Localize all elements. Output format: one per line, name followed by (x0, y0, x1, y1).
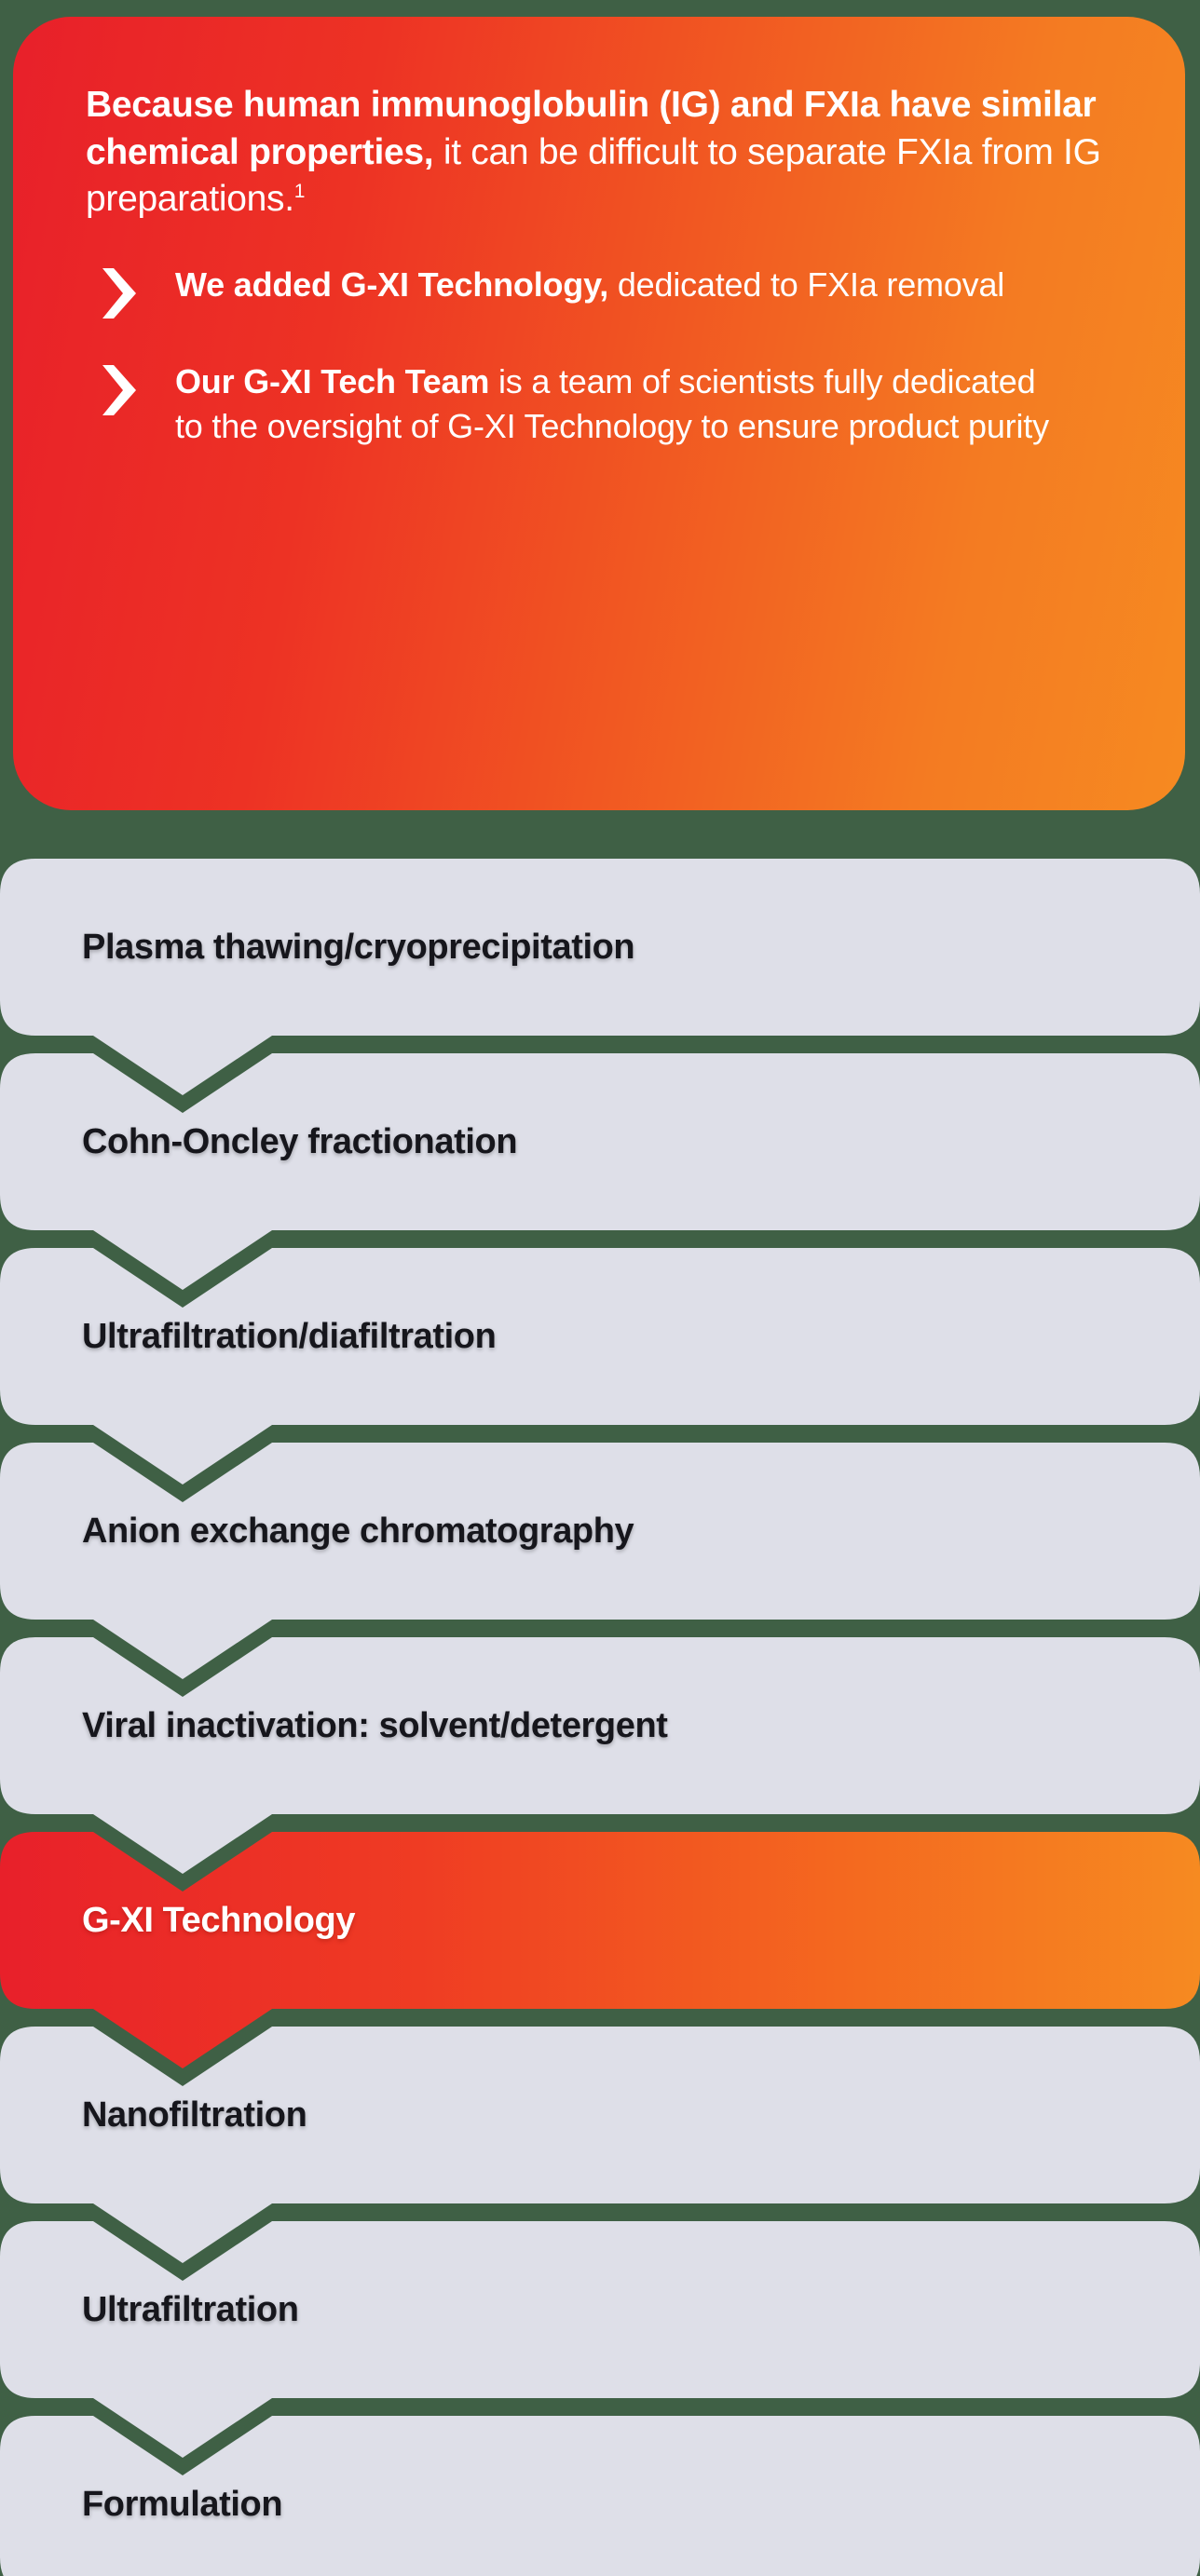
hero-lead-paragraph: Because human immunoglobulin (IG) and FX… (86, 82, 1118, 224)
infographic-page: Because human immunoglobulin (IG) and FX… (0, 0, 1200, 2576)
process-step-label: Ultrafiltration/diafiltration (82, 1248, 496, 1425)
process-step-label: Formulation (82, 2416, 282, 2576)
process-step-label: Anion exchange chromatography (82, 1443, 634, 1620)
chevron-right-icon (86, 263, 175, 319)
hero-gradient-card: Because human immunoglobulin (IG) and FX… (13, 17, 1185, 810)
process-step-label: Nanofiltration (82, 2027, 307, 2203)
process-flow-list: Plasma thawing/cryoprecipitationCohn-Onc… (0, 859, 1200, 2576)
hero-bullet-text: We added G-XI Technology, dedicated to F… (175, 263, 1004, 307)
process-step[interactable]: Nanofiltration (0, 2027, 1200, 2203)
process-step[interactable]: Viral inactivation: solvent/detergent (0, 1637, 1200, 1814)
process-step[interactable]: Anion exchange chromatography (0, 1443, 1200, 1620)
hero-bullet-text: Our G-XI Tech Team is a team of scientis… (175, 359, 1051, 449)
process-step[interactable]: Formulation (0, 2416, 1200, 2576)
hero-lead-superscript: 1 (294, 181, 305, 202)
process-step[interactable]: Ultrafiltration (0, 2221, 1200, 2398)
hero-bullet-bold: Our G-XI Tech Team (175, 362, 489, 400)
process-step-label: G-XI Technology (82, 1832, 355, 2009)
process-step[interactable]: Plasma thawing/cryoprecipitation (0, 859, 1200, 1036)
hero-bullet-bold: We added G-XI Technology, (175, 265, 608, 304)
process-step-label: Cohn-Oncley fractionation (82, 1053, 517, 1230)
process-step[interactable]: Cohn-Oncley fractionation (0, 1053, 1200, 1230)
chevron-right-icon (86, 359, 175, 415)
hero-bullet-rest: dedicated to FXIa removal (608, 265, 1004, 304)
process-step[interactable]: Ultrafiltration/diafiltration (0, 1248, 1200, 1425)
process-step-label: Viral inactivation: solvent/detergent (82, 1637, 668, 1814)
hero-bullet-list: We added G-XI Technology, dedicated to F… (86, 263, 1118, 449)
process-step[interactable]: G-XI Technology (0, 1832, 1200, 2009)
hero-bullet-item: We added G-XI Technology, dedicated to F… (86, 263, 1118, 319)
process-step-label: Plasma thawing/cryoprecipitation (82, 859, 634, 1036)
hero-bullet-item: Our G-XI Tech Team is a team of scientis… (86, 359, 1118, 449)
process-step-label: Ultrafiltration (82, 2221, 299, 2398)
